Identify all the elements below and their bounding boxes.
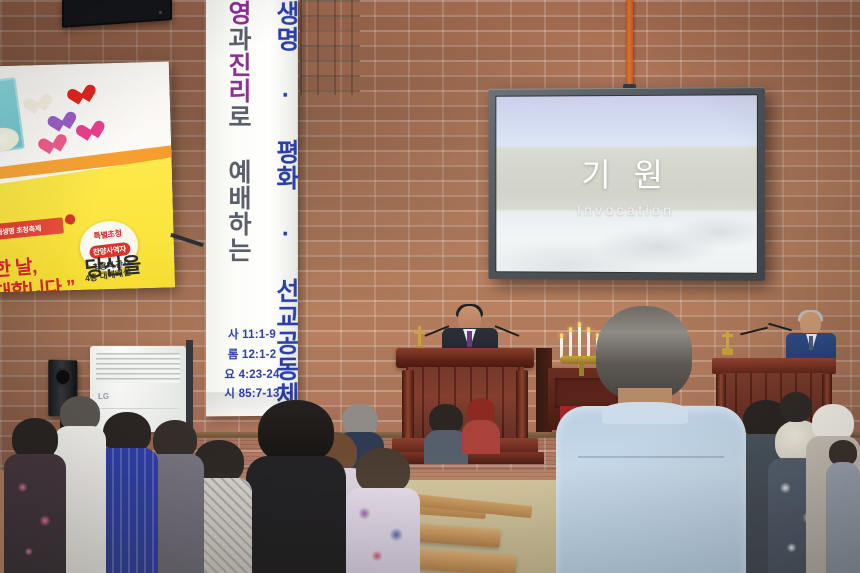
congregation-member bbox=[4, 418, 66, 573]
invitation-banner: 주년 새생명 초청축제 특별초청 찬양사역자 최용덕 간사 복한 날, 당신을 … bbox=[0, 61, 175, 292]
elder-at-lectern bbox=[786, 312, 838, 360]
foreground-man-collar bbox=[602, 402, 688, 424]
screen-title-korean: 기 원 bbox=[496, 159, 757, 191]
person-body bbox=[826, 462, 860, 573]
congregation-member bbox=[346, 448, 420, 573]
projection-screen-surface: 기 원 Invocation bbox=[495, 94, 758, 274]
church-sanctuary-photo: 기 원 Invocation 영과진리로 예배하는 생명 · 평화 · 선교공동… bbox=[0, 0, 860, 573]
headline-line2-text: 초대합니다.” bbox=[0, 277, 76, 293]
congregation-member bbox=[246, 400, 346, 573]
congregation-member bbox=[462, 398, 500, 454]
pulpit-column-left bbox=[402, 370, 414, 440]
banner-column-left: 영과진리로 예배하는 bbox=[206, 0, 250, 314]
air-conditioner-grille bbox=[96, 353, 180, 383]
banner-emphasis-2: 진리 bbox=[224, 52, 252, 104]
banner-emphasis-1: 영 bbox=[224, 0, 252, 26]
badge-line-1: 특별초청 bbox=[78, 226, 137, 244]
preacher-tie bbox=[467, 331, 472, 347]
screen-subtitle-english: Invocation bbox=[496, 201, 757, 217]
elder-tie bbox=[809, 336, 813, 350]
pulpit-cross-icon bbox=[414, 326, 424, 348]
scripture-ref-2: 롬 12:1-2 bbox=[206, 345, 298, 365]
banner-text-columns: 영과진리로 예배하는 생명 · 평화 · 선교공동체 bbox=[206, 0, 298, 314]
scripture-ref-3: 요 4:23-24 bbox=[206, 365, 298, 385]
foreground-man-shirt bbox=[556, 406, 746, 573]
foreground-man-shirt-seam bbox=[578, 456, 724, 458]
congregation-member bbox=[826, 440, 860, 573]
congregation-member bbox=[776, 392, 816, 432]
foreground-man bbox=[556, 306, 746, 573]
person-body bbox=[346, 488, 420, 573]
pulpit-column-right bbox=[516, 370, 528, 440]
foreground-man-head bbox=[596, 306, 692, 400]
person-head bbox=[780, 392, 812, 422]
banner-plain-2: 로 예배하는 bbox=[224, 104, 252, 263]
cross-horizontal bbox=[414, 331, 425, 334]
person-head bbox=[258, 400, 334, 464]
person-body bbox=[4, 454, 66, 573]
hanging-rod bbox=[626, 0, 633, 88]
air-conditioner-seam bbox=[96, 408, 180, 409]
banner-column-right: 생명 · 평화 · 선교공동체 bbox=[250, 0, 298, 314]
cross-vertical bbox=[418, 326, 421, 348]
projection-screen: 기 원 Invocation bbox=[488, 87, 765, 281]
speaker-cone-icon bbox=[54, 368, 71, 386]
tv-indicator-icon bbox=[159, 11, 162, 14]
vertical-worship-banner: 영과진리로 예배하는 생명 · 평화 · 선교공동체 사 11:1-9 롬 12… bbox=[206, 0, 298, 416]
person-body bbox=[462, 420, 500, 454]
pulpit-top bbox=[396, 348, 534, 368]
banner-plain-1: 과 bbox=[224, 26, 252, 52]
person-body bbox=[246, 456, 346, 573]
scripture-ref-1: 사 11:1-9 bbox=[206, 326, 298, 346]
